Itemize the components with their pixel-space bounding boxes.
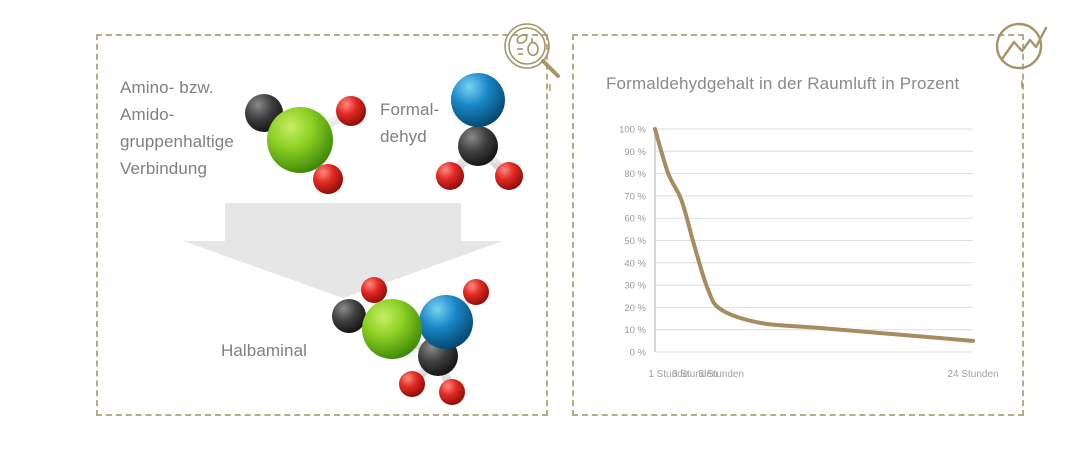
y-axis-tick-label: 90 %	[624, 147, 646, 158]
y-axis-tick-label: 50 %	[624, 236, 646, 247]
chart-canvas: 100 %90 %80 %70 %60 %50 %40 %30 %20 %10 …	[572, 34, 1024, 416]
y-axis-tick-label: 60 %	[624, 214, 646, 225]
chart-gridlines	[655, 129, 973, 352]
formaldehyde-molecule	[433, 68, 528, 193]
y-axis-tick-label: 0 %	[630, 348, 647, 359]
y-axis-tick-label: 20 %	[624, 303, 646, 314]
x-axis-tick-label: 24 Stunden	[947, 369, 998, 380]
amino-compound-molecule	[238, 83, 383, 195]
y-axis-tick-label: 30 %	[624, 281, 646, 292]
x-axis-tick-label: 5 Stunden	[698, 369, 744, 380]
y-axis-tick-label: 100 %	[619, 125, 646, 136]
y-axis-tick-label: 70 %	[624, 191, 646, 202]
hemiaminal-molecule	[326, 272, 504, 408]
y-axis-tick-label: 10 %	[624, 325, 646, 336]
chart-x-axis-labels: 1 Stunde3 Stunden5 Stunden24 Stunden	[648, 369, 998, 380]
chart-series-line	[655, 129, 973, 341]
chart-y-axis-labels: 100 %90 %80 %70 %60 %50 %40 %30 %20 %10 …	[619, 125, 646, 359]
formaldehyde-decay-chart: 100 %90 %80 %70 %60 %50 %40 %30 %20 %10 …	[572, 34, 1024, 416]
y-axis-tick-label: 80 %	[624, 169, 646, 180]
y-axis-tick-label: 40 %	[624, 258, 646, 269]
